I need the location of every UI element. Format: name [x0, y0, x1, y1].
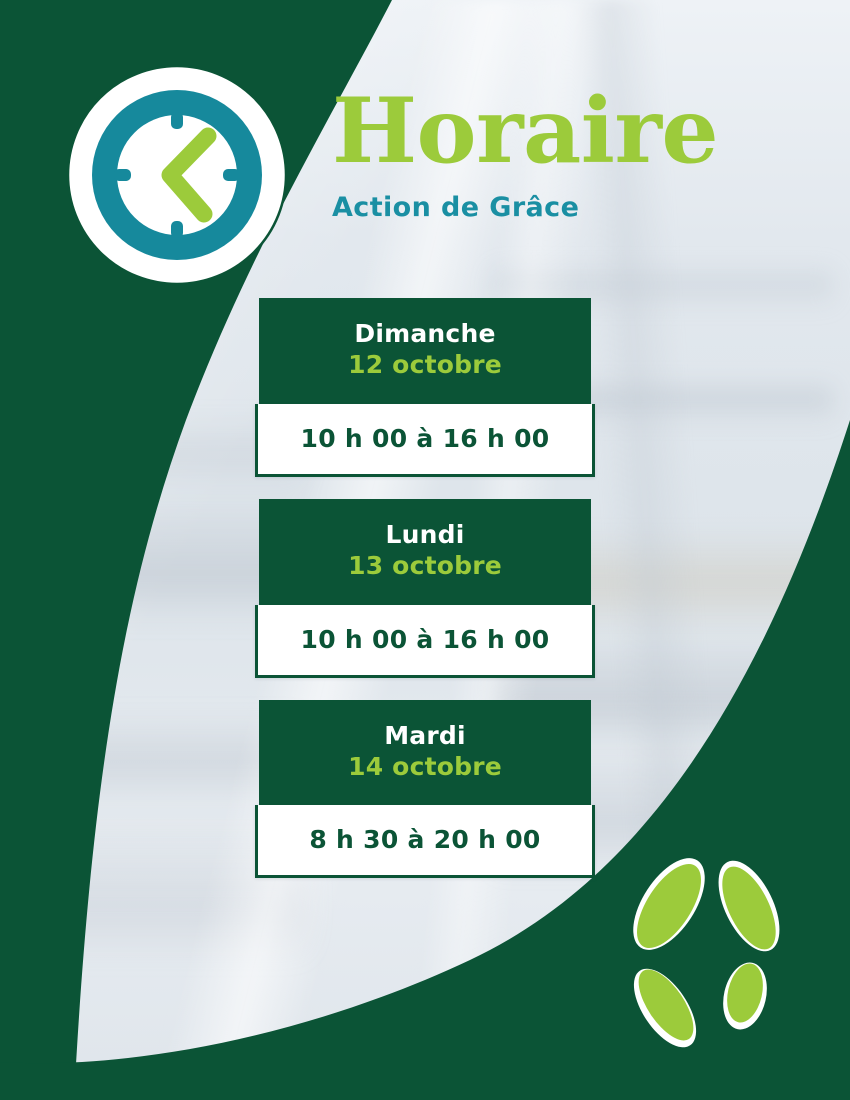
clock-icon	[66, 64, 288, 286]
schedule-card-header: Lundi 13 octobre	[259, 499, 591, 605]
schedule-hours-label: 10 h 00 à 16 h 00	[255, 404, 595, 477]
page-title: Horaire	[332, 86, 792, 176]
butterfly-logo-icon	[612, 856, 804, 1056]
schedule-date-label: 14 octobre	[269, 751, 581, 784]
schedule-date-label: 13 octobre	[269, 550, 581, 583]
schedule-day-label: Dimanche	[269, 318, 581, 349]
schedule-card: Mardi 14 octobre 8 h 30 à 20 h 00	[255, 700, 595, 879]
schedule-day-label: Mardi	[269, 720, 581, 751]
schedule-hours-label: 8 h 30 à 20 h 00	[255, 805, 595, 878]
horaire-poster: Horaire Action de Grâce Dimanche 12 octo…	[0, 0, 850, 1100]
schedule-card: Lundi 13 octobre 10 h 00 à 16 h 00	[255, 499, 595, 678]
schedule-hours-label: 10 h 00 à 16 h 00	[255, 605, 595, 678]
page-subtitle: Action de Grâce	[332, 192, 792, 223]
schedule-card: Dimanche 12 octobre 10 h 00 à 16 h 00	[255, 298, 595, 477]
schedule-card-header: Dimanche 12 octobre	[259, 298, 591, 404]
schedule-list: Dimanche 12 octobre 10 h 00 à 16 h 00 Lu…	[0, 298, 850, 900]
schedule-day-label: Lundi	[269, 519, 581, 550]
schedule-card-header: Mardi 14 octobre	[259, 700, 591, 806]
poster-header: Horaire Action de Grâce	[0, 0, 850, 290]
title-block: Horaire Action de Grâce	[332, 86, 792, 223]
schedule-date-label: 12 octobre	[269, 349, 581, 382]
